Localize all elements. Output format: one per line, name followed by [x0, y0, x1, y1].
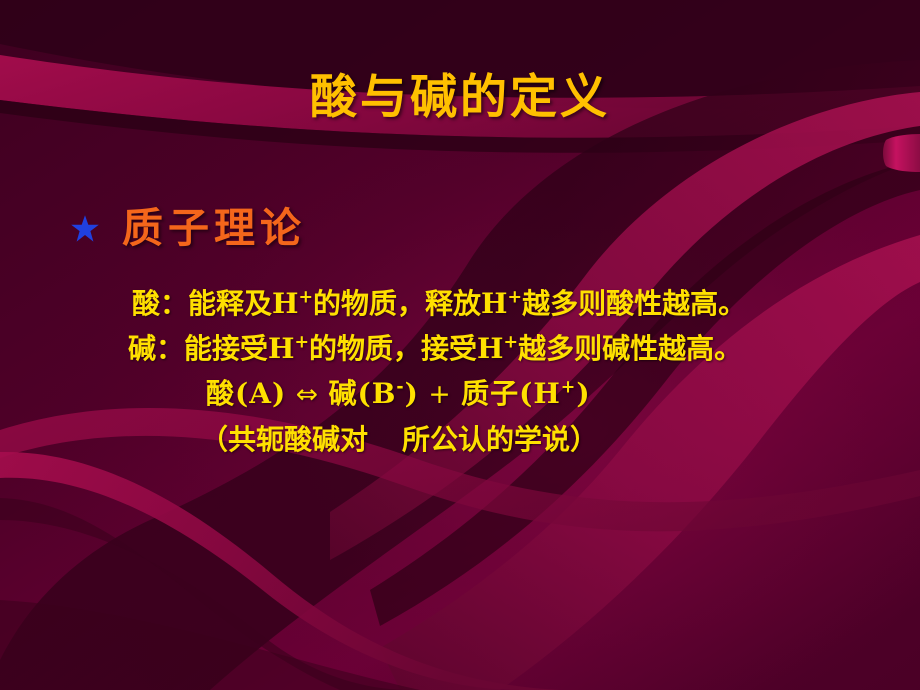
body-text-block: 酸：能释及H+的物质，释放H+越多则酸性越高。 碱：能接受H+的物质，接受H+越… — [0, 281, 920, 462]
bullet-heading-label: 质子理论 — [122, 206, 306, 251]
page-title: 酸与碱的定义 — [0, 72, 920, 125]
body-line-acid-definition: 酸：能释及H+的物质，释放H+越多则酸性越高。 — [0, 281, 920, 326]
body-line-base-definition: 碱：能接受H+的物质，接受H+越多则碱性越高。 — [0, 326, 920, 371]
presentation-slide: 酸与碱的定义 质子理论 酸：能释及H+的物质，释放H+越多则酸性越高。 碱：能接… — [0, 0, 920, 690]
star-icon — [70, 214, 100, 244]
body-line-conjugate-note: （共轭酸碱对所公认的学说） — [0, 417, 920, 462]
bullet-heading-row: 质子理论 — [70, 206, 306, 251]
body-line-equilibrium-equation: 酸(A) ⇔ 碱(B-) + 质子(H+) — [0, 371, 920, 417]
